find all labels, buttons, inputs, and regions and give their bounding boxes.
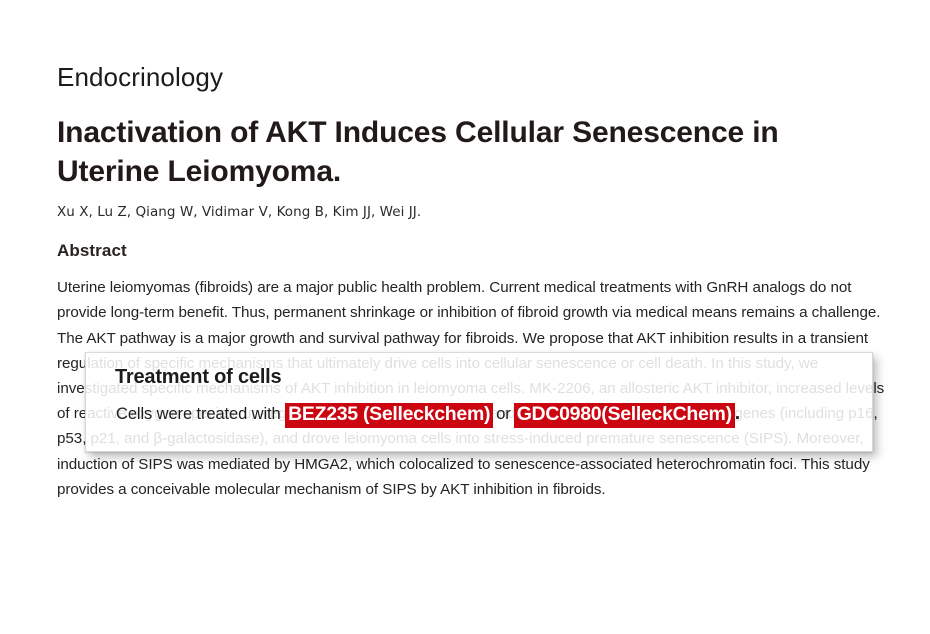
overlay-sentence: Cells were treated with BEZ235 (Selleckc… [116, 401, 864, 427]
sentence-prefix: Cells were treated with [116, 405, 285, 423]
treatment-of-cells-overlay: Treatment of cells Cells were treated wi… [85, 352, 873, 452]
sentence-suffix: . [735, 402, 740, 424]
author-list: Xu X, Lu Z, Qiang W, Vidimar V, Kong B, … [57, 191, 887, 220]
sentence-conjunction: or [493, 405, 513, 423]
overlay-heading: Treatment of cells [115, 366, 281, 389]
drug-highlight-gdc0980: GDC0980(SelleckChem) [514, 403, 735, 428]
journal-name: Endocrinology [57, 0, 887, 92]
drug-highlight-bez235: BEZ235 (Selleckchem) [285, 403, 493, 428]
document-page: Endocrinology Inactivation of AKT Induce… [0, 0, 930, 634]
page-title: Inactivation of AKT Induces Cellular Sen… [57, 92, 887, 192]
abstract-heading: Abstract [57, 220, 887, 261]
